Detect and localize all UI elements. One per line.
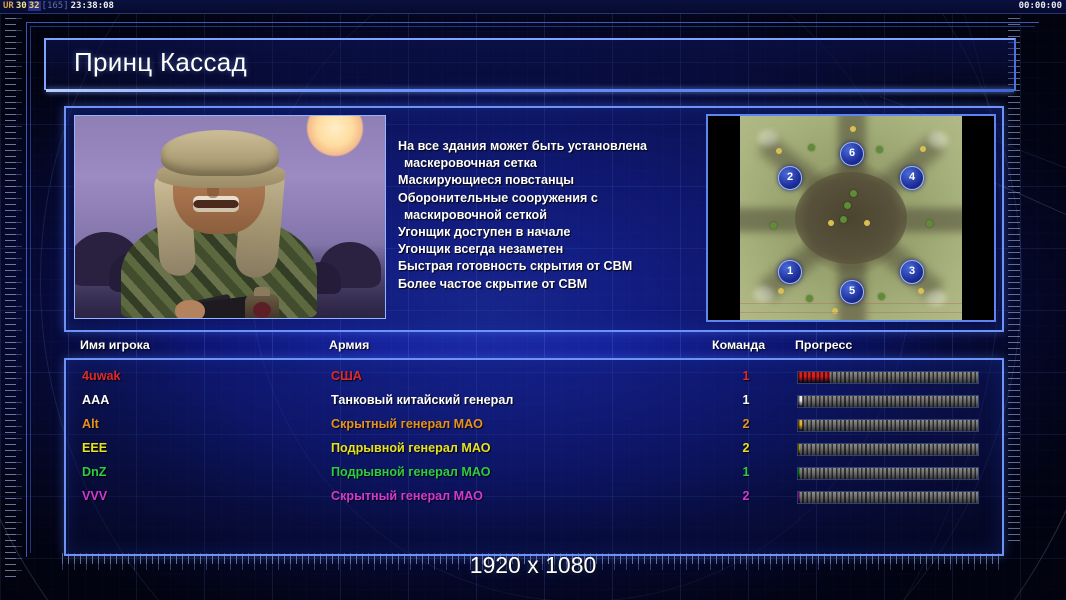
column-header-name: Имя игрока: [80, 338, 150, 352]
player-team: 2: [739, 441, 753, 455]
minimap-tree: [926, 220, 933, 227]
title-panel: Принц Кассад: [44, 38, 1016, 90]
minimap-resource: [776, 148, 782, 154]
player-progress-bar: [797, 419, 979, 432]
progress-segments: [798, 492, 978, 503]
progress-segments: [798, 396, 978, 407]
player-team: 1: [739, 393, 753, 407]
top-hud-bar: UR3032[165]23:38:08 00:00:00: [0, 0, 1066, 14]
progress-segments: [798, 444, 978, 455]
general-info-panel: На все здания может быть установленамаск…: [64, 106, 1004, 332]
minimap-start-position-4[interactable]: 4: [900, 166, 924, 190]
hud-bracket-value: [165]: [41, 1, 70, 11]
player-team: 2: [739, 489, 753, 503]
player-name: 4uwak: [82, 369, 121, 383]
player-progress-bar: [797, 467, 979, 480]
player-row[interactable]: AltСкрытный генерал МАО2: [66, 414, 1002, 438]
description-line: маскеровочная сетка: [398, 155, 694, 172]
player-progress-bar: [797, 371, 979, 384]
minimap-tree: [840, 216, 847, 223]
player-name: EEE: [82, 441, 107, 455]
player-army: Скрытный генерал МАО: [331, 417, 483, 431]
player-list-panel: 4uwakСША1AAAТанковый китайский генерал1A…: [64, 358, 1004, 556]
player-row[interactable]: DnZПодрывной генерал МАО1: [66, 462, 1002, 486]
general-portrait: [74, 115, 386, 319]
player-row[interactable]: 4uwakСША1: [66, 366, 1002, 390]
description-line: Быстрая готовность скрытия от СВМ: [398, 258, 694, 275]
description-line: Оборонительные сооружения с: [398, 190, 694, 207]
title-underline: [46, 89, 1014, 92]
minimap-tree: [808, 144, 815, 151]
ruler-left: [5, 18, 16, 580]
player-name: AAA: [82, 393, 109, 407]
hud-clock: 23:38:08: [70, 1, 115, 11]
description-line: Угонщик всегда незаметен: [398, 241, 694, 258]
turban: [161, 130, 279, 176]
player-row[interactable]: AAAТанковый китайский генерал1: [66, 390, 1002, 414]
player-army: Подрывной генерал МАО: [331, 465, 491, 479]
progress-segments: [798, 420, 978, 431]
minimap-tree: [878, 293, 885, 300]
minimap-center-basin: [795, 172, 907, 264]
minimap-start-position-6[interactable]: 6: [840, 142, 864, 166]
minimap-tree: [844, 202, 851, 209]
minimap-resource: [918, 288, 924, 294]
description-line: Угонщик доступен в начале: [398, 224, 694, 241]
soldier-hand: [175, 300, 205, 319]
general-description-list: На все здания может быть установленамаск…: [398, 138, 694, 293]
hud-value-1: 30: [15, 1, 28, 11]
player-team: 1: [739, 369, 753, 383]
canteen: [245, 294, 279, 319]
minimap-tree: [806, 295, 813, 302]
soldier-figure: [113, 132, 323, 318]
minimap-start-position-5[interactable]: 5: [840, 280, 864, 304]
player-progress-bar: [797, 443, 979, 456]
minimap-haze: [928, 132, 948, 148]
minimap-resource: [828, 220, 834, 226]
description-line: Маскирующиеся повстанцы: [398, 172, 694, 189]
soldier-mouth: [193, 196, 239, 212]
minimap-tree: [876, 146, 883, 153]
description-line: На все здания может быть установлена: [398, 138, 694, 155]
progress-segments: [798, 468, 978, 479]
player-name: Alt: [82, 417, 99, 431]
minimap-tree: [850, 190, 857, 197]
minimap-start-position-2[interactable]: 2: [778, 166, 802, 190]
player-row[interactable]: EEEПодрывной генерал МАО2: [66, 438, 1002, 462]
description-line: Более частое скрытие от СВМ: [398, 276, 694, 293]
ruler-left-secondary: [16, 18, 22, 580]
minimap-haze: [758, 130, 778, 146]
minimap-start-position-1[interactable]: 1: [778, 260, 802, 284]
column-header-progress: Прогресс: [795, 338, 852, 352]
hud-status-group: UR3032[165]23:38:08: [2, 0, 115, 13]
player-progress-bar: [797, 491, 979, 504]
player-name: VVV: [82, 489, 107, 503]
minimap: 1 2 3 4 5 6: [740, 116, 962, 320]
column-header-team: Команда: [712, 338, 765, 352]
player-progress-bar: [797, 395, 979, 408]
resolution-label: 1920 x 1080: [0, 552, 1066, 579]
player-army: Подрывной генерал МАО: [331, 441, 491, 455]
player-army: США: [331, 369, 362, 383]
minimap-panel: 1 2 3 4 5 6: [706, 114, 996, 322]
hud-timer: 00:00:00: [1019, 0, 1062, 13]
player-team: 2: [739, 417, 753, 431]
minimap-resource: [832, 308, 838, 314]
minimap-resource: [850, 126, 856, 132]
player-name: DnZ: [82, 465, 106, 479]
minimap-start-position-3[interactable]: 3: [900, 260, 924, 284]
progress-segments: [798, 372, 978, 383]
hud-ur-label: UR: [2, 1, 15, 11]
player-army: Танковый китайский генерал: [331, 393, 513, 407]
minimap-tree: [770, 222, 777, 229]
player-list-headers: Имя игрока Армия Команда Прогресс: [64, 338, 1000, 358]
minimap-resource: [864, 220, 870, 226]
page-title: Принц Кассад: [74, 47, 247, 78]
minimap-resource: [920, 146, 926, 152]
player-row[interactable]: VVVСкрытный генерал МАО2: [66, 486, 1002, 510]
minimap-haze: [754, 286, 774, 302]
hud-value-2: 32: [28, 1, 41, 11]
player-army: Скрытный генерал МАО: [331, 489, 483, 503]
description-line: маскировочной сеткой: [398, 207, 694, 224]
column-header-army: Армия: [329, 338, 369, 352]
minimap-scanline: [740, 312, 962, 313]
minimap-resource: [778, 288, 784, 294]
player-team: 1: [739, 465, 753, 479]
